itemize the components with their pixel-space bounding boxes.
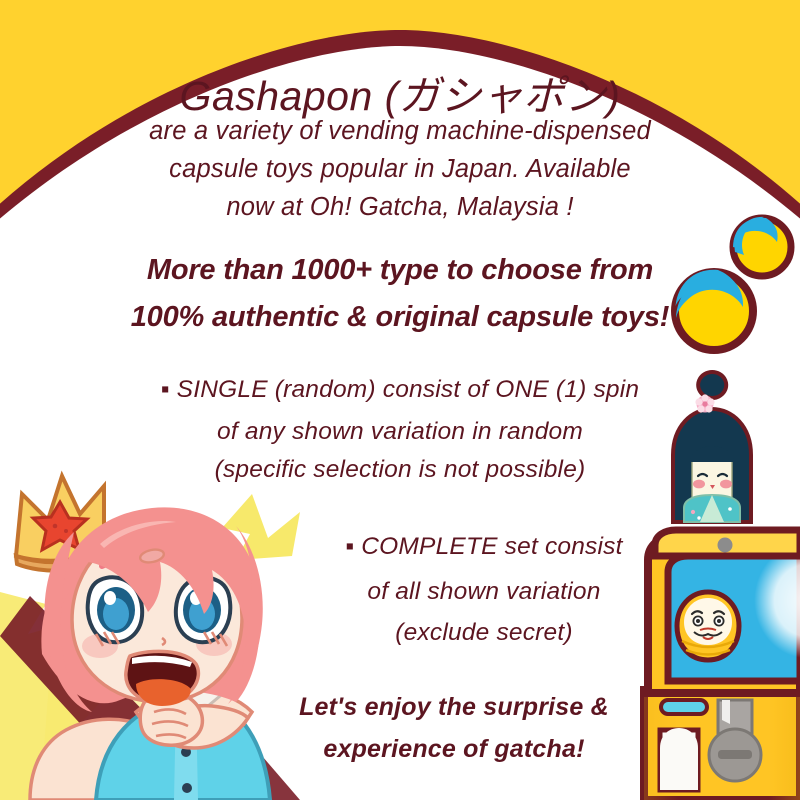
bullet-icon: ▪ [161,376,170,403]
complete-option-text-1: COMPLETE set consist [361,533,622,560]
complete-option-line-1: ▪ COMPLETE set consist [84,533,800,561]
closing-line-1: Let's enjoy the surprise & [54,693,800,722]
complete-option-line-2: of all shown variation [84,578,800,606]
lede-line-2: capsule toys popular in Japan. Available [0,155,800,184]
poster-canvas: Gashapon (ガシャポン) are a variety of vendin… [0,0,800,800]
lede-line-1: are a variety of vending machine-dispens… [0,117,800,146]
single-option-text-1: SINGLE (random) consist of ONE (1) spin [177,376,640,403]
closing-line-2: experience of gatcha! [54,735,800,764]
single-option-line-3: (specific selection is not possible) [0,456,800,484]
headline-line-2: 100% authentic & original capsule toys! [0,301,800,334]
complete-option-line-3: (exclude secret) [84,619,800,647]
single-option-line-2: of any shown variation in random [0,418,800,446]
headline-line-1: More than 1000+ type to choose from [0,254,800,287]
single-option-line-1: ▪ SINGLE (random) consist of ONE (1) spi… [0,376,800,404]
page-title: Gashapon (ガシャポン) [0,62,800,122]
poster-text: Gashapon (ガシャポン) are a variety of vendin… [0,0,800,800]
bullet-icon: ▪ [345,533,354,560]
lede-line-3: now at Oh! Gatcha, Malaysia ! [0,193,800,222]
